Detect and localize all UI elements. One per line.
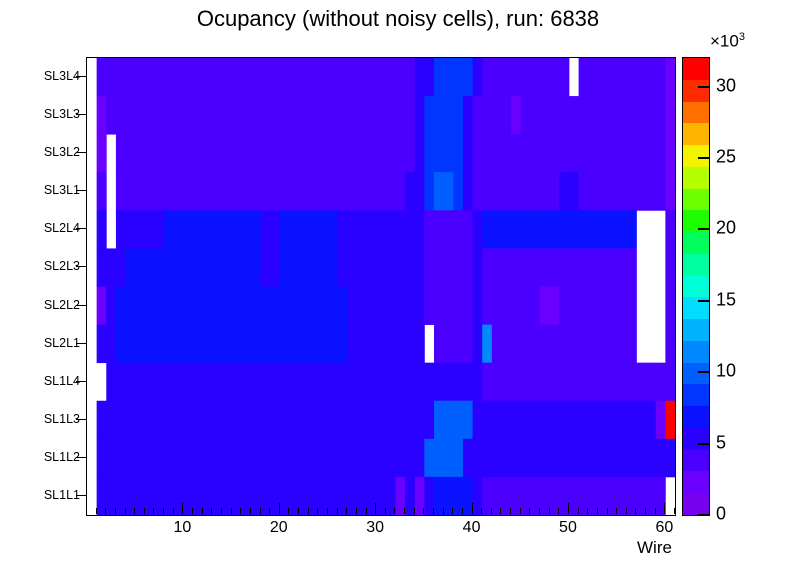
colorbar-tick — [698, 514, 709, 516]
y-axis-tick — [76, 114, 86, 115]
colorbar-tick-label: 5 — [716, 432, 726, 453]
y-axis-tick — [76, 381, 86, 382]
colorbar-tick-label: 15 — [716, 289, 736, 310]
colorbar-exponent-power: 3 — [739, 31, 745, 43]
colorbar-tick — [698, 371, 709, 373]
colorbar-ticks: 051015202530 — [0, 0, 796, 572]
y-axis-tick — [76, 228, 86, 229]
y-axis-tick — [76, 305, 86, 306]
colorbar-tick-label: 30 — [716, 75, 736, 96]
root-canvas: Ocupancy (without noisy cells), run: 683… — [0, 0, 796, 572]
colorbar-tick — [698, 228, 709, 230]
y-axis-tick — [76, 419, 86, 420]
colorbar-tick — [698, 86, 709, 88]
colorbar-tick-label: 25 — [716, 146, 736, 167]
y-axis-tick — [76, 152, 86, 153]
y-axis-tick — [76, 343, 86, 344]
colorbar-exponent-prefix: ×10 — [710, 32, 739, 51]
y-axis-tick — [76, 495, 86, 496]
colorbar-exponent: ×103 — [710, 31, 745, 52]
colorbar-tick-label: 20 — [716, 218, 736, 239]
y-axis-tick — [76, 457, 86, 458]
colorbar-tick — [698, 300, 709, 302]
colorbar-tick — [698, 157, 709, 159]
y-axis-tick — [76, 190, 86, 191]
colorbar-tick — [698, 443, 709, 445]
colorbar-tick-label: 0 — [716, 504, 726, 525]
y-axis-tick — [76, 266, 86, 267]
y-axis-tick — [76, 76, 86, 77]
colorbar-tick-label: 10 — [716, 361, 736, 382]
